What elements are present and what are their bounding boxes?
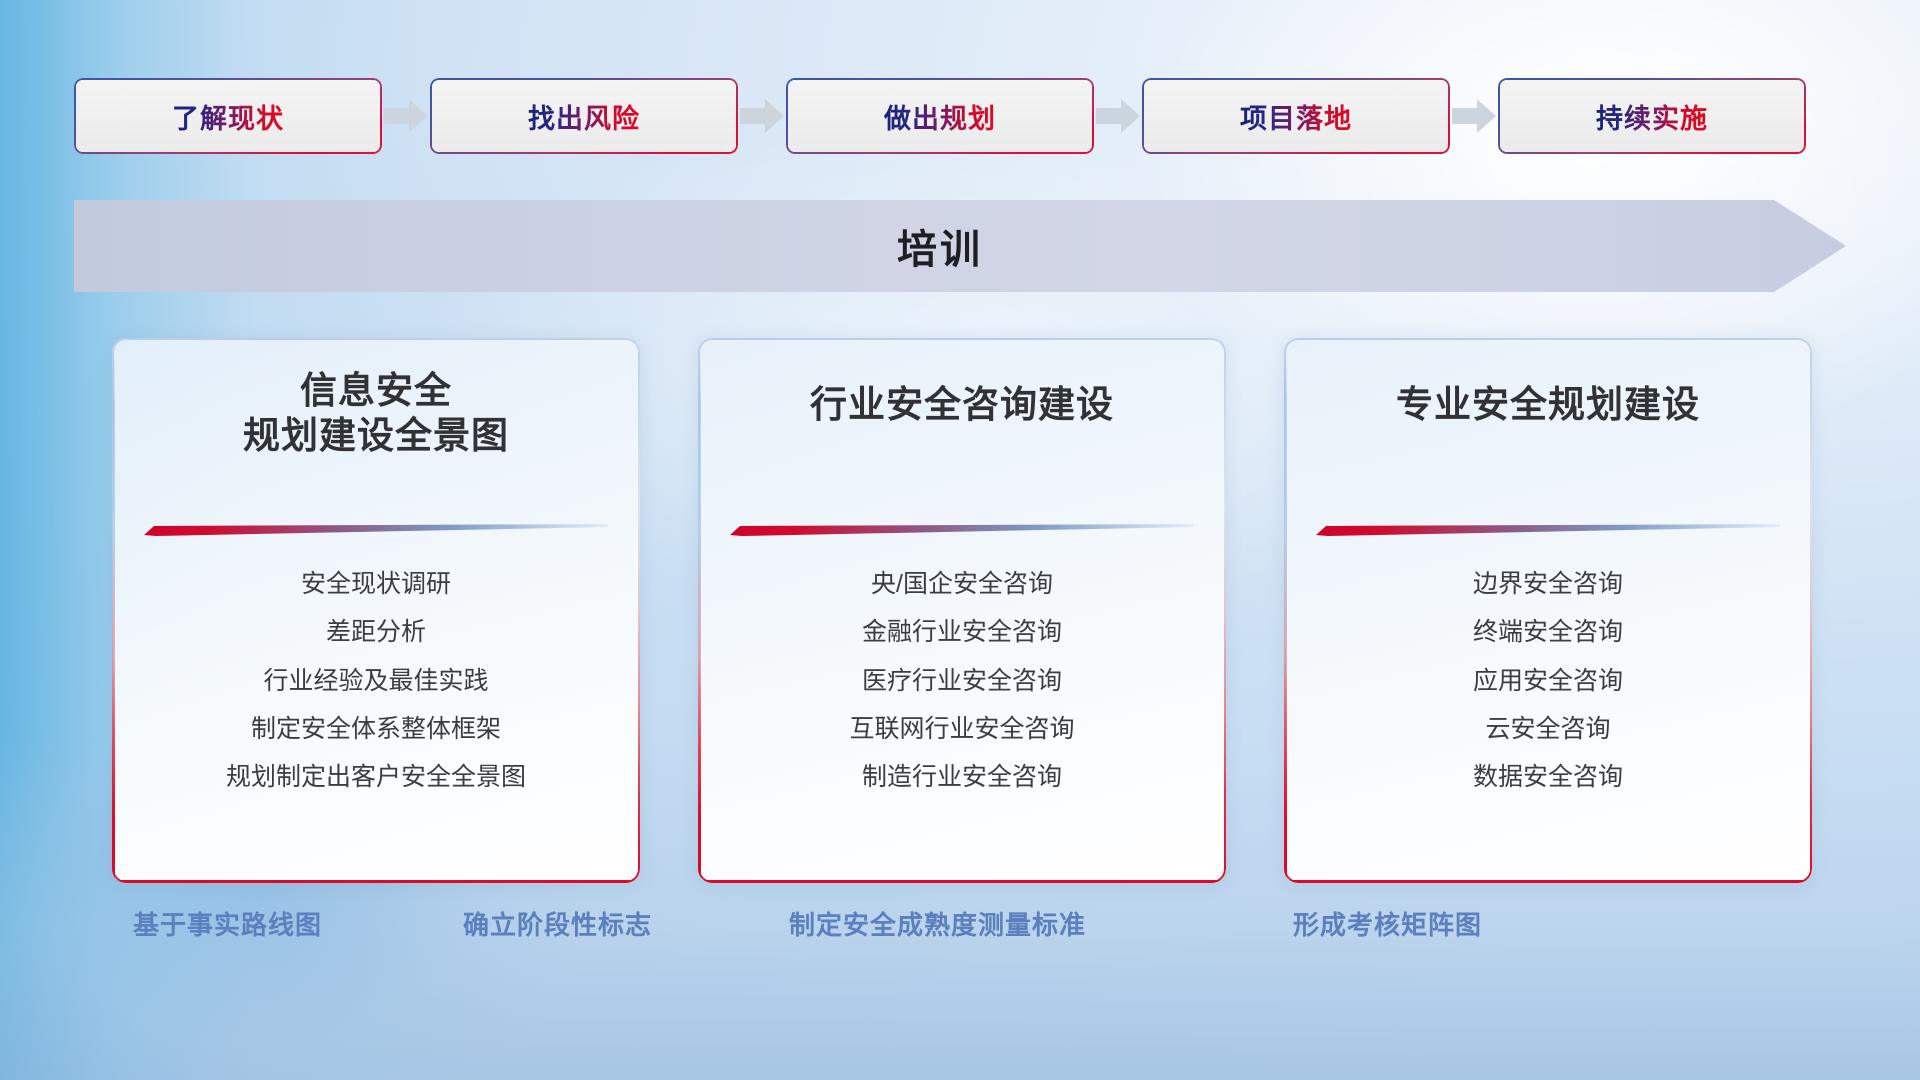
list-item: 规划制定出客户安全全景图 — [226, 759, 526, 795]
process-step-2-label: 做出规划 — [884, 97, 996, 136]
process-step-1[interactable]: 找出风险 — [430, 78, 738, 154]
card-item-list: 央/国企安全咨询 金融行业安全咨询 医疗行业安全咨询 互联网行业安全咨询 制造行… — [698, 566, 1226, 795]
list-item: 差距分析 — [326, 614, 426, 650]
card-item-list: 安全现状调研 差距分析 行业经验及最佳实践 制定安全体系整体框架 规划制定出客户… — [112, 566, 640, 795]
process-step-3-label: 项目落地 — [1240, 97, 1352, 136]
list-item: 安全现状调研 — [301, 566, 451, 602]
list-item: 应用安全咨询 — [1473, 663, 1623, 699]
card-title: 专业安全规划建设 — [1284, 382, 1812, 427]
training-banner-label: 培训 — [74, 200, 1846, 292]
process-step-0-label: 了解现状 — [172, 97, 284, 136]
card-title-line-1: 信息安全 — [138, 368, 614, 413]
process-arrow-icon-0 — [382, 78, 430, 154]
process-step-4[interactable]: 持续实施 — [1498, 78, 1806, 154]
card-row: 信息安全 规划建设全景图 — [112, 338, 1812, 883]
footer-label-maturity-standard: 制定安全成熟度测量标准 — [789, 905, 1086, 942]
card-bottom-accent-rule — [698, 880, 1226, 883]
list-item: 边界安全咨询 — [1473, 566, 1623, 602]
list-item: 央/国企安全咨询 — [871, 566, 1053, 602]
process-step-1-inner: 找出风险 — [432, 80, 736, 152]
footer-label-row: 基于事实路线图 确立阶段性标志 制定安全成熟度测量标准 形成考核矩阵图 — [0, 905, 1920, 961]
process-step-2-inner: 做出规划 — [788, 80, 1092, 152]
process-step-4-inner: 持续实施 — [1500, 80, 1804, 152]
card-title-line-1: 专业安全规划建设 — [1310, 382, 1786, 427]
slide-stage: 了解现状 找出风险 做出规划 — [0, 0, 1920, 1080]
list-item: 制造行业安全咨询 — [862, 759, 1062, 795]
process-step-4-label: 持续实施 — [1596, 97, 1708, 136]
list-item: 云安全咨询 — [1485, 711, 1610, 747]
process-step-row: 了解现状 找出风险 做出规划 — [74, 78, 1846, 154]
process-arrow-icon-2 — [1094, 78, 1142, 154]
card-divider-icon — [1316, 524, 1780, 536]
list-item: 数据安全咨询 — [1473, 759, 1623, 795]
process-step-3-inner: 项目落地 — [1144, 80, 1448, 152]
process-step-1-label: 找出风险 — [528, 97, 640, 136]
card-bottom-accent-rule — [1284, 880, 1812, 883]
training-banner: 培训 — [74, 200, 1846, 292]
card-professional-security-planning[interactable]: 专业安全规划建设 — [1284, 338, 1812, 883]
card-title: 行业安全咨询建设 — [698, 382, 1226, 427]
card-divider-icon — [730, 524, 1194, 536]
card-industry-security-consulting[interactable]: 行业安全咨询建设 — [698, 338, 1226, 883]
footer-label-milestones: 确立阶段性标志 — [463, 905, 652, 942]
card-title-line-1: 行业安全咨询建设 — [724, 382, 1200, 427]
card-item-list: 边界安全咨询 终端安全咨询 应用安全咨询 云安全咨询 数据安全咨询 — [1284, 566, 1812, 795]
process-arrow-icon-1 — [738, 78, 786, 154]
process-step-2[interactable]: 做出规划 — [786, 78, 1094, 154]
card-title: 信息安全 规划建设全景图 — [112, 368, 640, 458]
card-information-security-blueprint[interactable]: 信息安全 规划建设全景图 — [112, 338, 640, 883]
card-divider-icon — [144, 524, 608, 536]
list-item: 金融行业安全咨询 — [862, 614, 1062, 650]
footer-label-roadmap: 基于事实路线图 — [133, 905, 322, 942]
process-step-0-inner: 了解现状 — [76, 80, 380, 152]
card-bottom-accent-rule — [112, 880, 640, 883]
list-item: 医疗行业安全咨询 — [862, 663, 1062, 699]
process-step-0[interactable]: 了解现状 — [74, 78, 382, 154]
list-item: 制定安全体系整体框架 — [251, 711, 501, 747]
list-item: 终端安全咨询 — [1473, 614, 1623, 650]
process-step-3[interactable]: 项目落地 — [1142, 78, 1450, 154]
process-arrow-icon-3 — [1450, 78, 1498, 154]
list-item: 互联网行业安全咨询 — [849, 711, 1074, 747]
footer-label-assessment-matrix: 形成考核矩阵图 — [1293, 905, 1482, 942]
list-item: 行业经验及最佳实践 — [263, 663, 488, 699]
card-title-line-2: 规划建设全景图 — [138, 413, 614, 458]
